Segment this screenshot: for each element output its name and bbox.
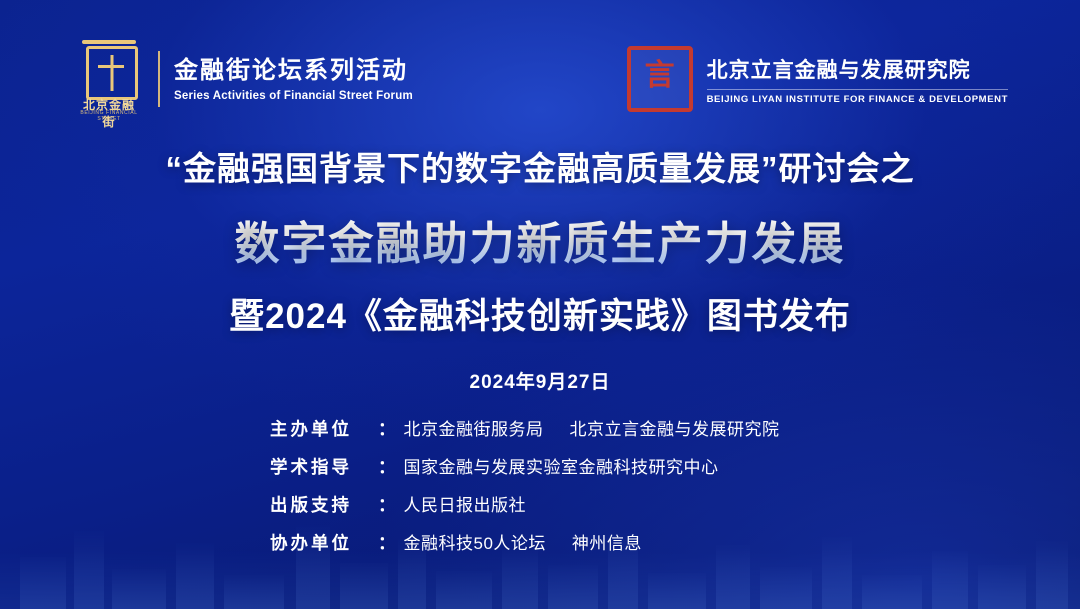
bjfs-mark-en: BEIJING FINANCIAL STREET: [72, 110, 146, 122]
organizer-label: 协办单位: [270, 530, 378, 555]
organizer-value: 人民日报出版社: [404, 491, 527, 516]
institute-title-cn: 北京立言金融与发展研究院: [707, 54, 1008, 84]
liyan-seal-icon: 言: [627, 46, 693, 112]
title-line-2: 数字金融助力新质生产力发展: [0, 207, 1080, 272]
organizer-label: 主办单位: [270, 416, 378, 441]
title-line-1: “金融强国背景下的数字金融高质量发展”研讨会之: [0, 142, 1080, 190]
logo-divider: [158, 51, 160, 107]
beijing-financial-street-gate-icon: 北京金融街 BEIJING FINANCIAL STREET: [78, 42, 140, 116]
organizer-colon: ：: [378, 454, 396, 479]
forum-title-cn: 金融街论坛系列活动: [174, 56, 413, 86]
organizer-list: 主办单位 ： 北京金融街服务局 北京立言金融与发展研究院 学术指导 ： 国家金融…: [0, 415, 1080, 555]
financial-street-forum-logo: 北京金融街 BEIJING FINANCIAL STREET 金融街论坛系列活动…: [78, 42, 413, 116]
organizer-colon: ：: [378, 530, 396, 555]
organizer-row: 协办单位 ： 金融科技50人论坛 神州信息: [270, 529, 810, 555]
organizer-value: 北京金融街服务局: [404, 415, 544, 440]
event-date: 2024年9月27日: [0, 367, 1080, 394]
organizer-value: 金融科技50人论坛: [404, 529, 546, 554]
organizer-value: 国家金融与发展实验室金融科技研究中心: [404, 453, 719, 478]
organizer-colon: ：: [378, 416, 396, 441]
poster-canvas: 北京金融街 BEIJING FINANCIAL STREET 金融街论坛系列活动…: [0, 0, 1080, 609]
poster-titles: “金融强国背景下的数字金融高质量发展”研讨会之 数字金融助力新质生产力发展 暨2…: [0, 142, 1080, 394]
organizer-label: 出版支持: [270, 492, 378, 517]
forum-title-en: Series Activities of Financial Street Fo…: [174, 90, 413, 102]
organizer-colon: ：: [378, 492, 396, 517]
institute-title-en: BEIJING LIYAN INSTITUTE FOR FINANCE & DE…: [707, 89, 1008, 105]
organizer-value: 神州信息: [572, 529, 642, 554]
title-line-3: 暨2024《金融科技创新实践》图书发布: [0, 288, 1080, 339]
organizer-row: 出版支持 ： 人民日报出版社: [270, 491, 810, 517]
organizer-value: 北京立言金融与发展研究院: [570, 415, 780, 440]
organizer-row: 学术指导 ： 国家金融与发展实验室金融科技研究中心: [270, 453, 810, 479]
organizer-row: 主办单位 ： 北京金融街服务局 北京立言金融与发展研究院: [270, 415, 810, 441]
poster-header: 北京金融街 BEIJING FINANCIAL STREET 金融街论坛系列活动…: [0, 40, 1080, 120]
liyan-institute-logo: 言 北京立言金融与发展研究院 BEIJING LIYAN INSTITUTE F…: [627, 46, 1008, 112]
organizer-label: 学术指导: [270, 454, 378, 479]
